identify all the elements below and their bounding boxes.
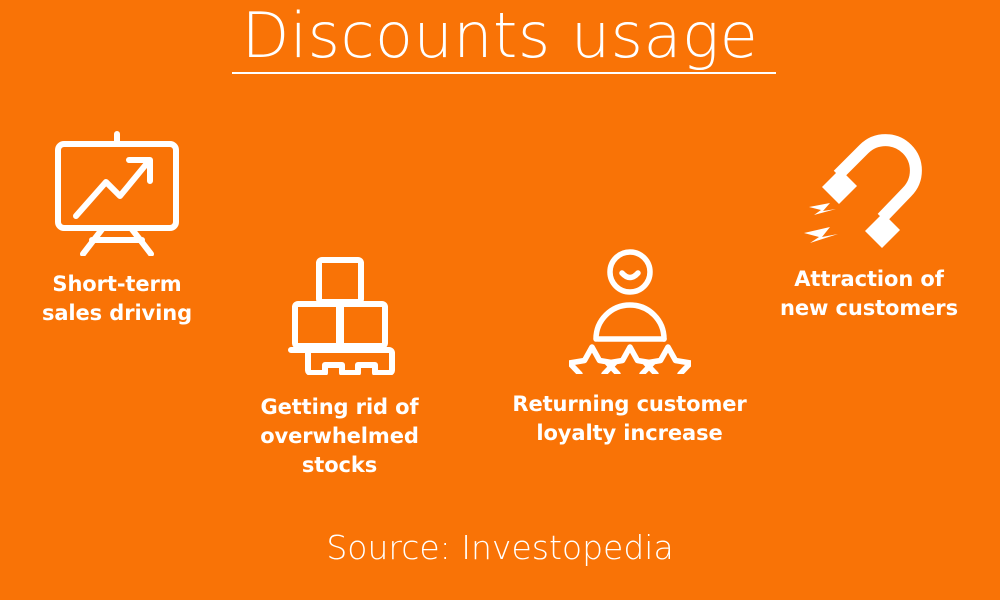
item-label: Attraction of new customers (755, 265, 983, 323)
source-note: Source: Investopedia (0, 528, 1000, 568)
item-getting-rid-of-overwhelmed-stocks: Getting rid of overwhelmed stocks (222, 255, 457, 480)
item-label: Getting rid of overwhelmed stocks (222, 393, 457, 480)
item-returning-customer-loyalty-increase: Returning customer loyalty increase (512, 248, 747, 448)
customer-rating-stars-icon (512, 248, 747, 374)
item-short-term-sales-driving: Short-term sales driving (6, 130, 228, 328)
boxes-on-pallet-icon (222, 255, 457, 375)
item-attraction-of-new-customers: Attraction of new customers (755, 127, 983, 323)
discounts-usage-infographic: Discounts usage Short-term sales driving (0, 0, 1000, 600)
item-label: Returning customer loyalty increase (512, 390, 747, 448)
title-block: Discounts usage (0, 0, 1000, 70)
presentation-chart-icon (6, 130, 228, 256)
page-title: Discounts usage (0, 0, 1000, 70)
item-label: Short-term sales driving (6, 270, 228, 328)
magnet-icon (755, 127, 983, 249)
title-underline-divider (232, 72, 776, 74)
